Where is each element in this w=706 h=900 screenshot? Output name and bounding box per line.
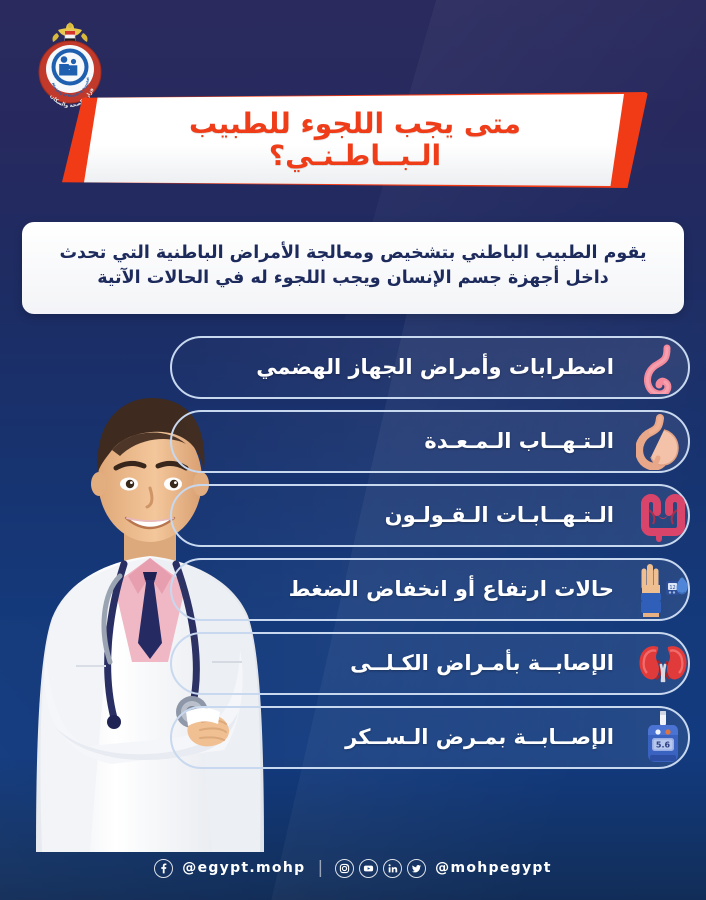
kidneys-icon: [626, 631, 700, 697]
list-item[interactable]: حالات ارتفاع أو انخفاض الضغط 12: [170, 558, 690, 621]
list-item-label: اضطرابات وأمراض الجهاز الهضمي: [256, 356, 614, 379]
list-item-label: حالات ارتفاع أو انخفاض الضغط: [289, 578, 614, 601]
glucometer-icon: 5.6: [626, 705, 700, 771]
list-item[interactable]: الـتـهــابـات الـقـولـون: [170, 484, 690, 547]
facebook-handle[interactable]: @egypt.mohp: [182, 860, 305, 876]
facebook-icon[interactable]: [154, 859, 173, 878]
stomach-anatomy-icon: [626, 409, 700, 475]
title-line-1: متى يجب اللجوء للطبيب: [189, 109, 521, 139]
social-icon-group: [335, 859, 426, 878]
title-line-2: الـبــاطـنـي؟: [269, 141, 441, 171]
conditions-list: اضطرابات وأمراض الجهاز الهضمي الـتـهــاب…: [170, 336, 690, 769]
list-item-label: الإصابــة بأمـراض الكـلــى: [350, 652, 614, 675]
page-title: متى يجب اللجوء للطبيب الـبــاطـنـي؟: [62, 92, 648, 188]
stomach-icon: [626, 335, 700, 401]
blood-pressure-cuff-icon: 12: [626, 557, 700, 623]
footer-separator: |: [317, 858, 323, 878]
instagram-icon[interactable]: [335, 859, 354, 878]
twitter-icon[interactable]: [407, 859, 426, 878]
intro-text: يقوم الطبيب الباطني بتشخيص ومعالجة الأمر…: [44, 241, 662, 292]
intro-description-box: يقوم الطبيب الباطني بتشخيص ومعالجة الأمر…: [22, 222, 684, 314]
social-footer: @egypt.mohp |: [0, 846, 706, 890]
list-item-label: الـتـهــابـات الـقـولـون: [385, 504, 614, 527]
list-item[interactable]: اضطرابات وأمراض الجهاز الهضمي: [170, 336, 690, 399]
list-item-label: الإصــابــة بمـرض الـســكر: [345, 726, 614, 749]
youtube-icon[interactable]: [359, 859, 378, 878]
list-item[interactable]: الـتـهــاب الـمـعـدة: [170, 410, 690, 473]
list-item[interactable]: الإصــابــة بمـرض الـســكر 5.6: [170, 706, 690, 769]
glucometer-reading-value: 5.6: [656, 740, 671, 749]
list-item-label: الـتـهــاب الـمـعـدة: [424, 430, 614, 453]
linkedin-icon[interactable]: [383, 859, 402, 878]
list-item[interactable]: الإصابــة بأمـراض الكـلــى: [170, 632, 690, 695]
shared-handle[interactable]: @mohpegypt: [435, 860, 552, 876]
infographic-poster: Ministry of Health & Population وزارة ال…: [0, 0, 706, 900]
svg-text:12: 12: [669, 585, 675, 591]
colon-intestine-icon: [626, 483, 700, 549]
